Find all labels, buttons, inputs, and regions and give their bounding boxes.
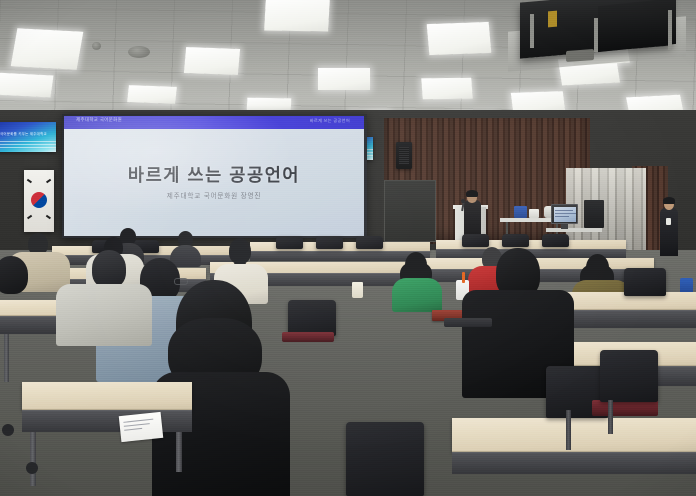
ceiling-light-panel: [0, 72, 54, 97]
chair: [276, 236, 303, 249]
wall-panel: [384, 180, 436, 242]
display-scanlines: [0, 141, 56, 150]
desk-skirt: [452, 452, 696, 474]
monitor-text-line: [555, 213, 576, 214]
chair: [288, 300, 336, 336]
handout-text-line: [124, 423, 150, 427]
supply-box-blue: [514, 206, 527, 218]
chair: [316, 236, 343, 249]
projector-indicator-light: [548, 11, 557, 28]
pc-tower: [584, 200, 604, 228]
slide-banner-right-text: 바르게 쓰는 공공언어: [310, 118, 350, 124]
trigram: [27, 215, 32, 219]
chair: [600, 350, 658, 402]
attendee-head: [0, 256, 28, 294]
desk-surface: [452, 418, 696, 452]
secondary-display-left-label: 국어문화를 키우는 제주대학교: [0, 131, 47, 136]
ceiling-projector-body: [598, 0, 676, 52]
chair: [542, 234, 569, 247]
ceiling-light-panel: [427, 22, 492, 55]
chair: [624, 268, 666, 296]
desk-front-right: [452, 418, 696, 452]
chair-post: [608, 400, 613, 434]
slide-banner-left-text: 제주대학교 국어문화원: [76, 117, 122, 123]
projector-support-stem: [530, 14, 534, 48]
ceiling-light-panel: [184, 47, 240, 75]
chair-seat: [444, 318, 492, 327]
desk-leg: [4, 334, 9, 382]
projector-support-stem: [594, 18, 598, 52]
ceiling-light-panel: [318, 68, 370, 90]
monitor-text-line: [555, 210, 573, 211]
standing-person-body: [660, 208, 678, 256]
av-monitor: [551, 204, 578, 224]
secondary-display-left: 국어문화를 키우는 제주대학교: [0, 122, 56, 152]
desk-surface: [22, 382, 192, 410]
monitor-screen: [554, 207, 576, 222]
slide-title: 바르게 쓰는 공공언어: [64, 162, 364, 187]
desk-front-with-handout: [22, 382, 192, 410]
ceiling-light-panel: [421, 78, 472, 100]
desk-leg: [30, 432, 36, 486]
paper-cup: [352, 282, 363, 298]
handout-text-line: [124, 428, 142, 431]
standing-person-hair: [663, 197, 675, 204]
monitor-text-line: [555, 216, 569, 217]
ceiling-speaker: [92, 42, 101, 50]
korean-national-flag-icon: [24, 170, 54, 232]
wall-speaker-icon: [396, 142, 412, 169]
trigram: [46, 215, 51, 219]
eyeglasses-icon: [174, 278, 188, 285]
desk-skirt: [250, 251, 430, 261]
attendee-head: [92, 250, 126, 288]
taeguk-circle: [31, 192, 47, 208]
projector-support-stem: [668, 10, 672, 50]
lanyard-badge: [666, 218, 671, 225]
desk-leg: [176, 432, 182, 472]
ceiling-light-panel: [127, 85, 177, 104]
ceiling-light-panel: [11, 28, 84, 69]
chair-seat: [282, 332, 334, 342]
microphone-icon: [461, 199, 465, 203]
attendee-torso: [0, 290, 44, 336]
desk-caster: [2, 424, 14, 436]
supply-box-white: [529, 209, 539, 218]
presenter-hair: [466, 190, 478, 197]
lecture-hall-photo: 국어문화를 키우는 제주대학교 제주대학교 국어문화원 바르게 쓰는 공공언어 …: [0, 0, 696, 496]
projection-screen: 제주대학교 국어문화원 바르게 쓰는 공공언어 바르게 쓰는 공공언어 제주대학…: [64, 116, 364, 236]
desk-skirt: [22, 410, 192, 432]
av-desk: [546, 228, 602, 232]
chair-seat: [592, 400, 658, 416]
trigram: [27, 179, 32, 183]
desk-caster: [26, 462, 38, 474]
attendee-torso: [392, 278, 442, 312]
ceiling-light-panel: [264, 0, 330, 32]
drink-straw: [462, 272, 465, 283]
slide-subtitle: 제주대학교 국어문화원 장영진: [64, 190, 364, 200]
chair: [462, 234, 489, 247]
printed-handout: [119, 412, 163, 442]
chair: [346, 422, 424, 496]
attendee-torso: [56, 284, 152, 346]
monitor-stand: [561, 224, 568, 229]
chair: [356, 236, 383, 249]
ceiling-vent: [128, 46, 150, 58]
chair: [502, 234, 529, 247]
projector-lens-housing: [566, 49, 594, 62]
chair-post: [566, 410, 571, 450]
trigram: [46, 179, 51, 183]
